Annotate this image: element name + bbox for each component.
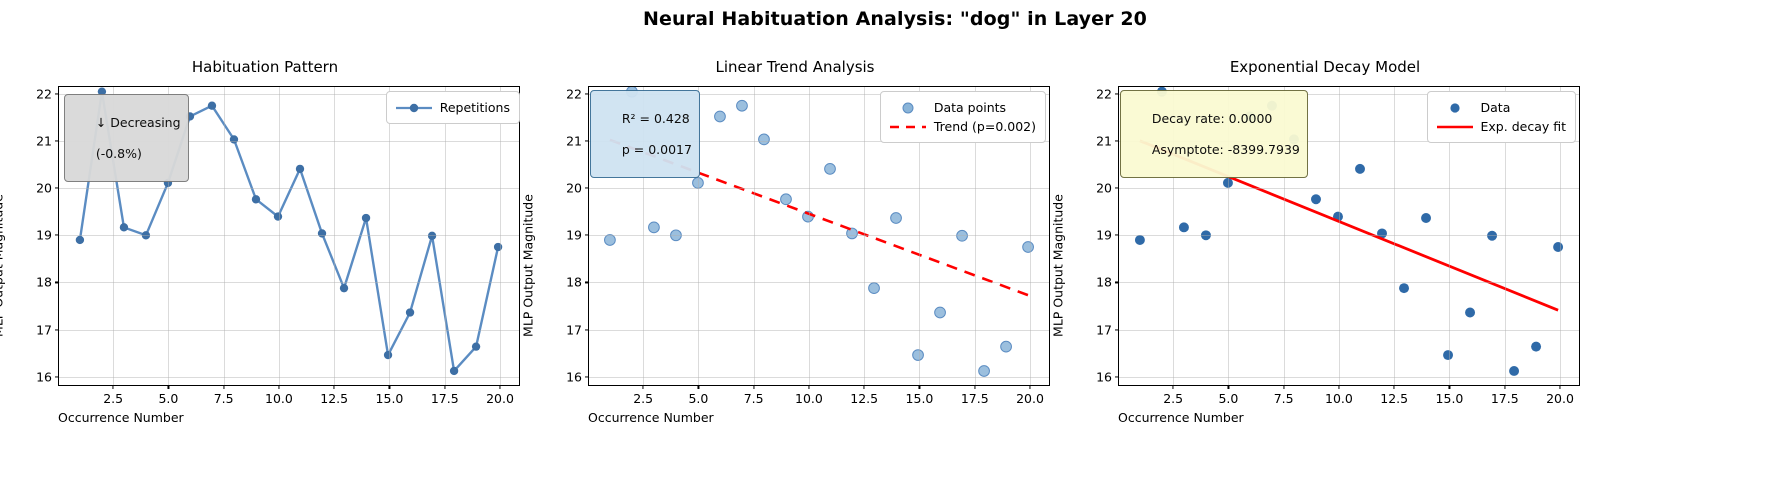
x-tick-mark	[168, 385, 169, 389]
grid-line-horizontal	[589, 377, 1049, 378]
x-tick-mark	[278, 385, 279, 389]
scatter-marker-icon	[889, 101, 927, 115]
x-tick-label: 7.5	[214, 391, 234, 406]
legend-item-trend[interactable]: Trend (p=0.002)	[889, 117, 1036, 136]
legend-label: Data	[1481, 101, 1511, 115]
legend-item-repetitions[interactable]: Repetitions	[395, 98, 510, 117]
x-tick-label: 10.0	[1325, 391, 1353, 406]
data-point	[1311, 194, 1321, 204]
data-point	[781, 194, 792, 205]
x-tick-mark	[223, 385, 224, 389]
x-tick-label: 20.0	[486, 391, 514, 406]
x-tick-label: 5.0	[1218, 391, 1238, 406]
data-point	[1553, 242, 1563, 252]
panel-exponential-decay-model: Exponential Decay Model MLP Output Magni…	[1060, 58, 1590, 458]
x-tick-label: 20.0	[1016, 391, 1044, 406]
y-tick-mark	[585, 141, 589, 142]
y-tick-mark	[585, 188, 589, 189]
stats-annotation: R² = 0.428 p = 0.0017	[590, 90, 700, 178]
figure-canvas: Neural Habituation Analysis: "dog" in La…	[0, 0, 1790, 480]
grid-line-horizontal	[1119, 377, 1579, 378]
x-tick-mark	[499, 385, 500, 389]
x-tick-label: 15.0	[1436, 391, 1464, 406]
x-tick-label: 7.5	[1274, 391, 1294, 406]
x-tick-label: 12.5	[1380, 391, 1408, 406]
x-tick-mark	[643, 385, 644, 389]
y-tick-label: 19	[1096, 228, 1112, 243]
y-tick-label: 16	[566, 369, 582, 384]
grid-line-horizontal	[589, 282, 1049, 283]
p-value: p = 0.0017	[622, 142, 692, 157]
x-tick-mark	[919, 385, 920, 389]
x-tick-label: 5.0	[688, 391, 708, 406]
data-point	[494, 243, 502, 251]
x-tick-mark	[1029, 385, 1030, 389]
legend-item-data-points[interactable]: Data points	[889, 98, 1036, 117]
data-point	[759, 134, 770, 145]
data-point	[384, 351, 392, 359]
y-tick-mark	[1115, 376, 1119, 377]
y-tick-mark	[585, 329, 589, 330]
data-point	[1135, 235, 1145, 245]
grid-line-horizontal	[1119, 235, 1579, 236]
x-tick-mark	[1504, 385, 1505, 389]
y-tick-mark	[1115, 235, 1119, 236]
data-point	[913, 350, 924, 361]
data-point	[406, 308, 414, 316]
x-tick-label: 12.5	[320, 391, 348, 406]
legend-label: Trend (p=0.002)	[934, 120, 1036, 134]
grid-line-horizontal	[59, 330, 519, 331]
x-tick-label: 12.5	[850, 391, 878, 406]
y-tick-mark	[55, 376, 59, 377]
fit-annotation: Decay rate: 0.0000 Asymptote: -8399.7939	[1120, 90, 1308, 178]
data-point	[76, 236, 84, 244]
trend-annotation: ↓ Decreasing (-0.8%)	[64, 94, 189, 182]
x-tick-label: 2.5	[633, 391, 653, 406]
grid-line-horizontal	[1119, 282, 1579, 283]
y-tick-mark	[585, 235, 589, 236]
y-tick-mark	[1115, 329, 1119, 330]
y-tick-mark	[55, 188, 59, 189]
y-tick-label: 20	[566, 181, 582, 196]
data-point	[1465, 308, 1475, 318]
x-tick-mark	[113, 385, 114, 389]
y-tick-mark	[1115, 94, 1119, 95]
y-tick-label: 18	[36, 275, 52, 290]
x-tick-mark	[864, 385, 865, 389]
legend[interactable]: Data Exp. decay fit	[1427, 91, 1576, 143]
data-point	[252, 195, 260, 203]
data-point	[1531, 342, 1541, 352]
data-point	[1179, 222, 1189, 232]
x-tick-label: 17.5	[1491, 391, 1519, 406]
data-point	[1443, 350, 1453, 360]
x-tick-label: 15.0	[376, 391, 404, 406]
legend-label: Exp. decay fit	[1481, 120, 1566, 134]
x-tick-mark	[334, 385, 335, 389]
y-tick-label: 17	[36, 322, 52, 337]
x-axis-label: Occurrence Number	[1118, 410, 1244, 425]
data-point	[1509, 366, 1519, 376]
data-point	[362, 214, 370, 222]
x-tick-mark	[389, 385, 390, 389]
x-tick-mark	[1338, 385, 1339, 389]
x-tick-mark	[1394, 385, 1395, 389]
grid-line-horizontal	[1119, 188, 1579, 189]
data-point	[230, 135, 238, 143]
x-tick-mark	[1228, 385, 1229, 389]
x-tick-label: 17.5	[961, 391, 989, 406]
y-tick-label: 22	[36, 87, 52, 102]
data-point	[1399, 283, 1409, 293]
legend[interactable]: Repetitions	[386, 91, 520, 124]
figure-title: Neural Habituation Analysis: "dog" in La…	[0, 8, 1790, 30]
data-point	[715, 111, 726, 122]
dot-marker-icon	[1436, 101, 1474, 115]
grid-line-horizontal	[589, 235, 1049, 236]
grid-line-horizontal	[59, 235, 519, 236]
x-tick-label: 10.0	[265, 391, 293, 406]
solid-line-icon	[1436, 120, 1474, 134]
x-tick-mark	[753, 385, 754, 389]
y-tick-mark	[55, 94, 59, 95]
y-tick-label: 16	[1096, 369, 1112, 384]
data-point	[935, 307, 946, 318]
r-squared-value: R² = 0.428	[622, 111, 690, 126]
x-axis-label: Occurrence Number	[58, 410, 184, 425]
x-tick-label: 15.0	[906, 391, 934, 406]
y-tick-mark	[55, 329, 59, 330]
data-point	[1355, 164, 1365, 174]
panel-habituation-pattern: Habituation Pattern MLP Output Magnitude…	[0, 58, 530, 458]
grid-line-horizontal	[589, 188, 1049, 189]
y-tick-label: 17	[1096, 322, 1112, 337]
grid-line-horizontal	[59, 282, 519, 283]
y-tick-mark	[1115, 188, 1119, 189]
panel-title: Linear Trend Analysis	[530, 58, 1060, 76]
x-tick-mark	[1283, 385, 1284, 389]
data-point	[649, 222, 660, 233]
data-point	[450, 367, 458, 375]
data-point	[296, 165, 304, 173]
y-tick-label: 17	[566, 322, 582, 337]
y-tick-label: 21	[36, 134, 52, 149]
y-tick-mark	[585, 282, 589, 283]
data-point	[1001, 341, 1012, 352]
grid-line-horizontal	[589, 330, 1049, 331]
dashed-line-icon	[889, 120, 927, 134]
line-marker-icon	[395, 101, 433, 115]
panel-title: Habituation Pattern	[0, 58, 530, 76]
data-point	[1421, 213, 1431, 223]
panel-linear-trend-analysis: Linear Trend Analysis MLP Output Magnitu…	[530, 58, 1060, 458]
trend-annotation-line1: ↓ Decreasing	[96, 115, 181, 130]
x-tick-label: 10.0	[795, 391, 823, 406]
legend-item-data[interactable]: Data	[1436, 98, 1566, 117]
y-tick-label: 19	[566, 228, 582, 243]
y-axis-label: MLP Output Magnitude	[1051, 194, 1066, 337]
x-tick-label: 20.0	[1546, 391, 1574, 406]
panel-title: Exponential Decay Model	[1060, 58, 1590, 76]
y-tick-mark	[55, 141, 59, 142]
grid-line-horizontal	[1119, 330, 1579, 331]
asymptote-value: Asymptote: -8399.7939	[1152, 142, 1300, 157]
data-point	[869, 283, 880, 294]
y-tick-mark	[585, 376, 589, 377]
x-tick-mark	[1449, 385, 1450, 389]
data-point	[120, 223, 128, 231]
x-axis-label: Occurrence Number	[588, 410, 714, 425]
x-tick-mark	[974, 385, 975, 389]
data-point	[318, 229, 326, 237]
legend-item-exp-fit[interactable]: Exp. decay fit	[1436, 117, 1566, 136]
y-axis-label: MLP Output Magnitude	[0, 194, 6, 337]
grid-line-horizontal	[59, 377, 519, 378]
y-tick-label: 21	[566, 134, 582, 149]
y-tick-label: 16	[36, 369, 52, 384]
y-axis-label: MLP Output Magnitude	[521, 194, 536, 337]
data-point	[340, 284, 348, 292]
y-tick-mark	[55, 235, 59, 236]
data-point	[891, 213, 902, 224]
y-tick-mark	[55, 282, 59, 283]
legend-label: Data points	[934, 101, 1006, 115]
x-tick-mark	[698, 385, 699, 389]
data-point	[825, 164, 836, 175]
y-tick-label: 22	[1096, 87, 1112, 102]
y-tick-label: 18	[1096, 275, 1112, 290]
x-tick-label: 5.0	[158, 391, 178, 406]
x-tick-label: 2.5	[103, 391, 123, 406]
y-tick-label: 20	[1096, 181, 1112, 196]
x-tick-mark	[1173, 385, 1174, 389]
y-tick-label: 20	[36, 181, 52, 196]
data-point	[208, 102, 216, 110]
y-tick-label: 21	[1096, 134, 1112, 149]
decay-rate-value: Decay rate: 0.0000	[1152, 111, 1273, 126]
trend-annotation-line2: (-0.8%)	[96, 146, 142, 161]
x-tick-mark	[444, 385, 445, 389]
y-tick-mark	[585, 94, 589, 95]
x-tick-label: 17.5	[431, 391, 459, 406]
grid-line-horizontal	[59, 188, 519, 189]
data-point	[737, 100, 748, 111]
x-tick-label: 2.5	[1163, 391, 1183, 406]
y-tick-label: 18	[566, 275, 582, 290]
y-tick-mark	[1115, 282, 1119, 283]
x-tick-mark	[808, 385, 809, 389]
data-point	[1023, 242, 1034, 253]
y-tick-label: 22	[566, 87, 582, 102]
x-tick-mark	[1559, 385, 1560, 389]
data-point	[472, 342, 480, 350]
data-point	[979, 366, 990, 377]
y-tick-label: 19	[36, 228, 52, 243]
legend-label: Repetitions	[440, 101, 510, 115]
legend[interactable]: Data points Trend (p=0.002)	[880, 91, 1046, 143]
y-tick-mark	[1115, 141, 1119, 142]
x-tick-label: 7.5	[744, 391, 764, 406]
